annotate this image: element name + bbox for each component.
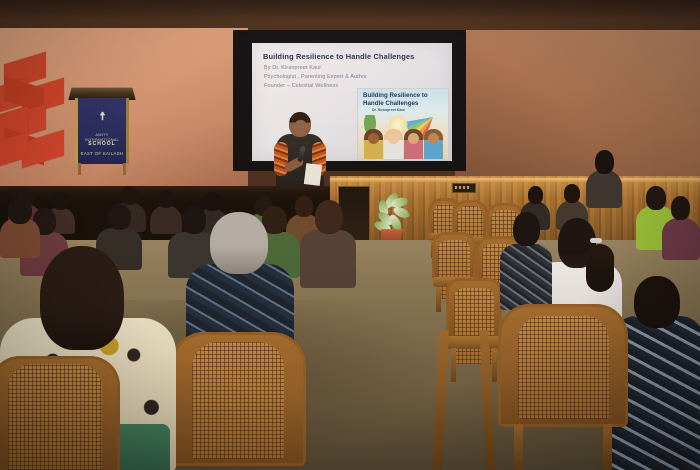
slide-credentials: Psychologist , Parenting Expert & Author xyxy=(264,74,367,80)
chair-foreground xyxy=(170,332,306,470)
ponytail xyxy=(586,244,614,292)
audience-member xyxy=(500,212,552,308)
slide-title: Building Resilience to Handle Challenges xyxy=(263,52,414,61)
speaker-papers xyxy=(304,163,322,186)
wall-diamond-artwork xyxy=(0,52,62,168)
book-cover-author: Dr. Kiranpreet Kaur xyxy=(372,108,405,112)
audience-member xyxy=(586,150,622,206)
child-figure xyxy=(384,129,403,159)
podium-org-line3: EAST OF KAILASH xyxy=(78,151,126,156)
speaker-presenter xyxy=(272,112,332,194)
audience-member xyxy=(300,200,356,286)
speaker-face xyxy=(294,120,307,135)
podium-org-line2: SCHOOL xyxy=(78,141,126,147)
book-cover-image: Building Resilience to Handle Challenges… xyxy=(357,88,449,160)
podium-banner: ☨ AMITY INTERNATIONAL SCHOOL EAST OF KAI… xyxy=(75,98,129,164)
chair-foreground xyxy=(0,356,120,470)
podium-leg xyxy=(78,163,81,175)
book-cover-title: Building Resilience to Handle Challenges xyxy=(363,92,429,107)
auditorium-photo: Building Resilience to Handle Challenges… xyxy=(0,0,700,470)
podium: ☨ AMITY INTERNATIONAL SCHOOL EAST OF KAI… xyxy=(73,87,131,173)
child-figure xyxy=(424,129,443,159)
school-logo-icon: ☨ xyxy=(100,112,105,122)
podium-leg xyxy=(123,163,126,175)
slide-founder: Founder – Celestial Wellness xyxy=(264,83,338,89)
audience-member xyxy=(662,196,700,258)
chair-foreground xyxy=(498,304,628,470)
chair xyxy=(430,330,500,470)
slide-byline: By Dr. Kiranpreet Kaur xyxy=(264,65,321,71)
wall-control-box xyxy=(452,183,476,193)
hair-clip xyxy=(590,238,602,243)
stage-wall-right-panel xyxy=(455,30,700,182)
audience-member xyxy=(0,196,40,256)
child-figure xyxy=(404,129,423,159)
child-figure xyxy=(364,129,383,159)
warm-led-strip-light xyxy=(330,178,700,182)
